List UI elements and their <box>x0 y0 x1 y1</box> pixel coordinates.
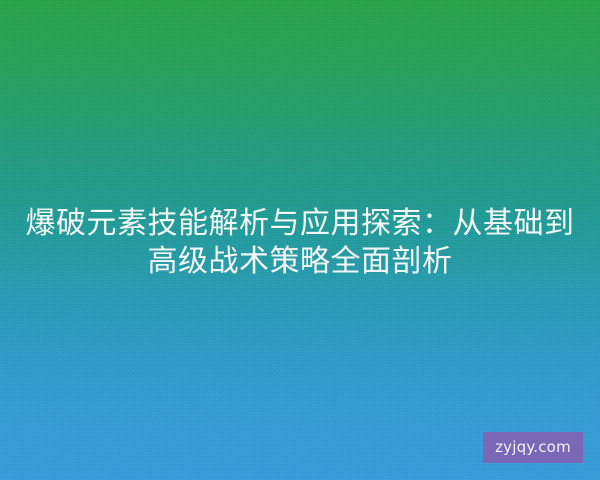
cover-image-canvas: 爆破元素技能解析与应用探索：从基础到 高级战术策略全面剖析 zyjqy.com <box>0 0 600 480</box>
watermark-badge: zyjqy.com <box>483 432 583 463</box>
title-line-2: 高级战术策略全面剖析 <box>16 243 584 281</box>
page-title: 爆破元素技能解析与应用探索：从基础到 高级战术策略全面剖析 <box>0 205 600 281</box>
title-line-1: 爆破元素技能解析与应用探索：从基础到 <box>16 205 584 243</box>
watermark-label: zyjqy.com <box>495 440 571 455</box>
